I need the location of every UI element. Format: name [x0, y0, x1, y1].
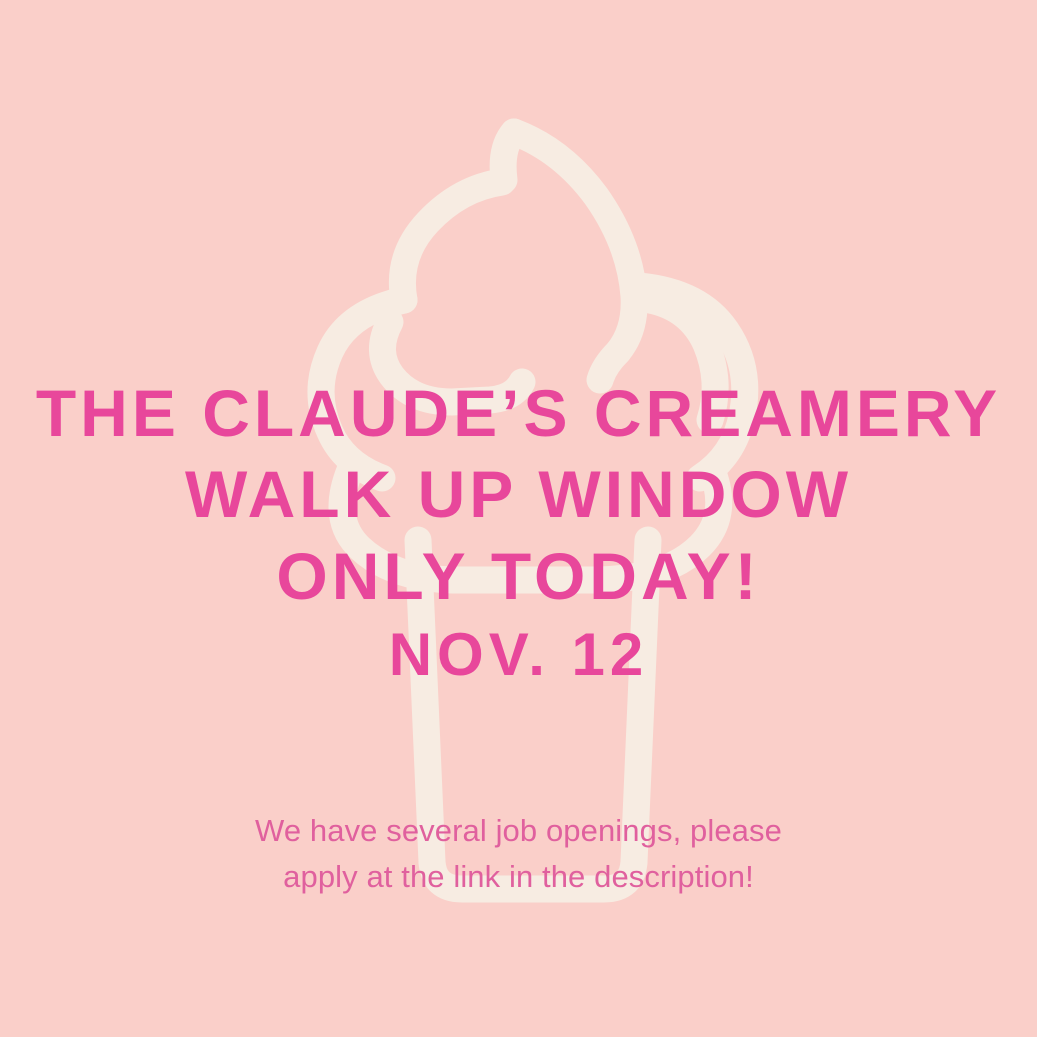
- promo-poster: THE CLAUDE’S CREAMERY WALK UP WINDOW ONL…: [0, 0, 1037, 1037]
- headline-line-1: THE CLAUDE’S CREAMERY: [0, 381, 1037, 446]
- subtitle-block: We have several job openings, please app…: [0, 808, 1037, 899]
- subtitle-line-1: We have several job openings, please: [0, 808, 1037, 854]
- swirl-mid-left: [402, 182, 502, 300]
- swirl-peak-right: [514, 132, 634, 352]
- headline-line-3: ONLY TODAY!: [0, 544, 1037, 609]
- subtitle-line-2: apply at the link in the description!: [0, 854, 1037, 900]
- headline-line-4-date: NOV. 12: [0, 625, 1037, 684]
- headline-line-2: WALK UP WINDOW: [0, 462, 1037, 527]
- headline-block: THE CLAUDE’S CREAMERY WALK UP WINDOW ONL…: [0, 381, 1037, 684]
